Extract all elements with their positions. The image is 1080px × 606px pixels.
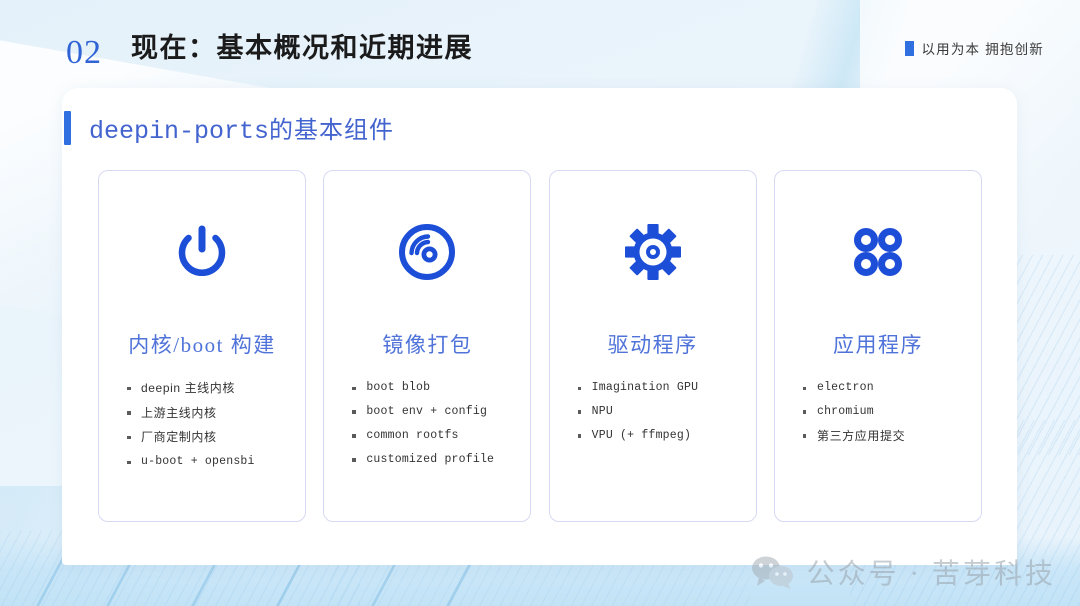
section-accent-bar bbox=[64, 111, 71, 145]
card-bullet-list: boot blob boot env + config common rootf… bbox=[350, 379, 520, 475]
header-tagline: 以用为本 拥抱创新 bbox=[905, 38, 1044, 58]
section-heading: deepin-ports的基本组件 bbox=[64, 110, 394, 146]
apps-grid-icon bbox=[775, 217, 981, 287]
section-title-mono: deepin-ports bbox=[89, 117, 269, 146]
watermark: 公众号 · 苦芽科技 bbox=[751, 552, 1056, 592]
list-item: common rootfs bbox=[350, 427, 520, 445]
gear-icon bbox=[550, 217, 756, 287]
content-panel: deepin-ports的基本组件 内核/boot 构建 deepin 主线内核… bbox=[62, 88, 1017, 565]
card-bullet-list: electron chromium 第三方应用提交 bbox=[801, 379, 971, 451]
slide-header: 02 现在：基本概况和近期进展 以用为本 拥抱创新 bbox=[0, 0, 1080, 88]
slide-canvas: 02 现在：基本概况和近期进展 以用为本 拥抱创新 deepin-ports的基… bbox=[0, 0, 1080, 606]
list-item: boot blob bbox=[350, 379, 520, 397]
section-title-cjk: 的基本组件 bbox=[269, 118, 394, 144]
list-item: electron bbox=[801, 379, 971, 397]
card-title: 内核/boot 构建 bbox=[99, 329, 305, 359]
card-title: 驱动程序 bbox=[550, 329, 756, 359]
list-item: 厂商定制内核 bbox=[125, 428, 295, 447]
card-title: 镜像打包 bbox=[324, 329, 530, 359]
list-item: boot env + config bbox=[350, 403, 520, 421]
list-item: deepin 主线内核 bbox=[125, 379, 295, 398]
component-card-row: 内核/boot 构建 deepin 主线内核 上游主线内核 厂商定制内核 u-b… bbox=[98, 170, 982, 522]
list-item: VPU (+ ffmpeg) bbox=[576, 427, 746, 445]
page-title: 现在：基本概况和近期进展 bbox=[131, 31, 473, 66]
list-item: customized profile bbox=[350, 451, 520, 469]
card-bullet-list: deepin 主线内核 上游主线内核 厂商定制内核 u-boot + opens… bbox=[125, 379, 295, 477]
card-title: 应用程序 bbox=[775, 329, 981, 359]
section-number: 02 bbox=[66, 36, 102, 70]
list-item: u-boot + opensbi bbox=[125, 453, 295, 471]
disc-icon bbox=[324, 217, 530, 287]
section-title: deepin-ports的基本组件 bbox=[89, 110, 394, 146]
list-item: 第三方应用提交 bbox=[801, 427, 971, 446]
header-tagline-label: 以用为本 拥抱创新 bbox=[921, 38, 1044, 58]
list-item: NPU bbox=[576, 403, 746, 421]
power-icon bbox=[99, 217, 305, 287]
square-bullet-icon bbox=[905, 41, 914, 56]
list-item: 上游主线内核 bbox=[125, 404, 295, 423]
card-kernel-boot[interactable]: 内核/boot 构建 deepin 主线内核 上游主线内核 厂商定制内核 u-b… bbox=[98, 170, 306, 522]
list-item: chromium bbox=[801, 403, 971, 421]
card-image-packaging[interactable]: 镜像打包 boot blob boot env + config common … bbox=[323, 170, 531, 522]
wechat-icon bbox=[751, 555, 795, 589]
card-applications[interactable]: 应用程序 electron chromium 第三方应用提交 bbox=[774, 170, 982, 522]
watermark-label: 公众号 · 苦芽科技 bbox=[807, 552, 1056, 592]
list-item: Imagination GPU bbox=[576, 379, 746, 397]
card-bullet-list: Imagination GPU NPU VPU (+ ffmpeg) bbox=[576, 379, 746, 451]
card-drivers[interactable]: 驱动程序 Imagination GPU NPU VPU (+ ffmpeg) bbox=[549, 170, 757, 522]
